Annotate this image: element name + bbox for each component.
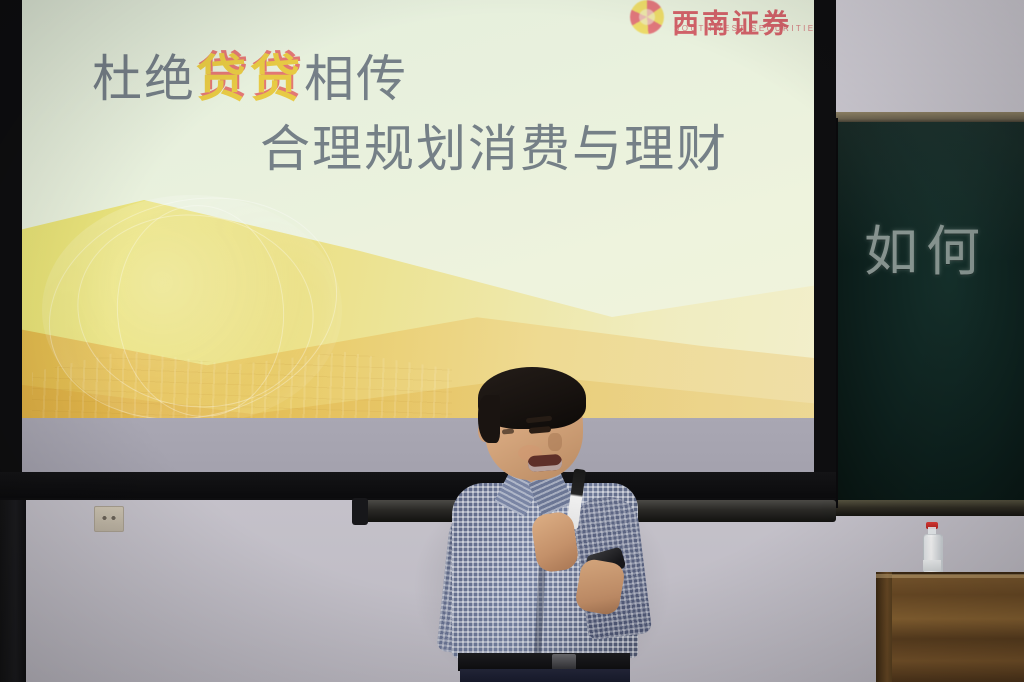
wall-above-blackboard bbox=[836, 0, 1024, 118]
slide-logo: 西南证券 SOUTHWEST SECURITIES bbox=[620, 0, 814, 40]
blackboard-chalk-text: 如何 bbox=[864, 225, 1024, 279]
presenter-hair-side bbox=[478, 395, 500, 443]
projection-screen-surface: 西南证券 SOUTHWEST SECURITIES 杜绝贷贷相传 合理规划消费与… bbox=[22, 0, 814, 478]
slide-bottom-band bbox=[22, 418, 814, 478]
logo-english-name: SOUTHWEST SECURITIES bbox=[674, 24, 814, 33]
pinwheel-swirl-logo-icon bbox=[630, 0, 664, 34]
slide-headline-line-1: 杜绝贷贷相传 bbox=[92, 54, 408, 104]
bottle-label bbox=[923, 560, 941, 571]
presentation-slide: 西南证券 SOUTHWEST SECURITIES 杜绝贷贷相传 合理规划消费与… bbox=[22, 0, 814, 478]
blackboard-chalk-ledge bbox=[836, 500, 1024, 516]
presenter-mouth bbox=[527, 454, 562, 472]
logo-chinese-name: 西南证券 bbox=[672, 2, 792, 41]
rail-end-cap bbox=[352, 498, 368, 525]
presenter-trousers bbox=[460, 669, 630, 682]
projection-screen-frame: 西南证券 SOUTHWEST SECURITIES 杜绝贷贷相传 合理规划消费与… bbox=[0, 0, 836, 500]
headline-part-2: 相传 bbox=[304, 50, 408, 108]
headline-part-1: 杜绝 bbox=[92, 50, 196, 108]
presenter bbox=[430, 365, 660, 682]
belt-buckle bbox=[552, 654, 576, 670]
presenter-nose bbox=[548, 433, 562, 451]
photo-scene: 如何 西南证券 SOUTHWEST SECURITIES bbox=[0, 0, 1024, 682]
water-bottle bbox=[921, 522, 943, 574]
blackboard: 如何 bbox=[836, 0, 1024, 520]
podium-left-edge bbox=[876, 572, 892, 682]
podium-top-highlight bbox=[876, 574, 1024, 578]
slide-headline-line-2: 合理规划消费与理财 bbox=[260, 124, 728, 174]
wooden-podium bbox=[876, 572, 1024, 682]
headline-accent: 贷贷 bbox=[196, 50, 304, 108]
power-outlet bbox=[94, 506, 124, 532]
